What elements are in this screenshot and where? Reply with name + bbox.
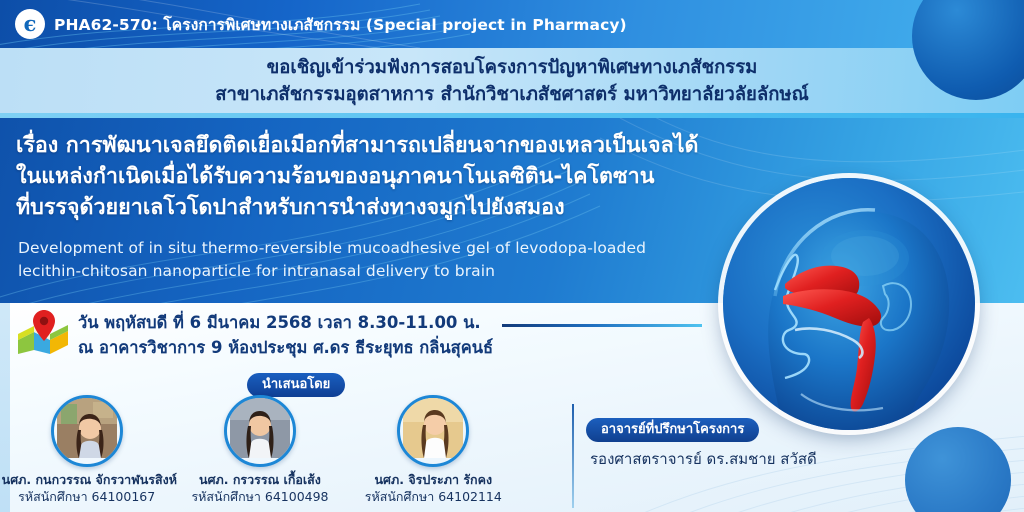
project-title-thai: เรื่อง การพัฒนาเจลยึดติดเยื่อเมือกที่สาม… — [16, 130, 716, 223]
advisor-badge: อาจารย์ที่ปรึกษาโครงการ — [586, 418, 759, 442]
presenter-item: นศภ. กนกวรรณ จักรวาฬนรสิงห์ รหัสนักศึกษา… — [2, 395, 172, 505]
presenter-item: นศภ. กรวรรณ เกื้อเส้ง รหัสนักศึกษา 64100… — [175, 395, 345, 505]
project-title-english: Development of in situ thermo-reversible… — [18, 237, 678, 283]
project-title-thai-line-3: ที่บรรจุด้วยยาเลโวโดปาสำหรับการนำส่งทางจ… — [16, 192, 716, 223]
presenter-student-id: รหัสนักศึกษา 64100167 — [2, 488, 172, 505]
invitation-text: ขอเชิญเข้าร่วมฟังการสอบโครงการปัญหาพิเศษ… — [0, 54, 1024, 108]
project-title-english-line-1: Development of in situ thermo-reversible… — [18, 237, 678, 260]
emblem-glyph: є — [24, 13, 37, 34]
schedule-block: วัน พฤหัสบดี ที่ 6 มีนาคม 2568 เวลา 8.30… — [78, 310, 493, 360]
project-title-thai-line-2: ในแหล่งกำเนิดเมื่อได้รับความร้อนของอนุภา… — [16, 161, 716, 192]
advisor-divider — [572, 404, 574, 508]
project-title-english-line-2: lecithin-chitosan nanoparticle for intra… — [18, 260, 678, 283]
event-date-time: วัน พฤหัสบดี ที่ 6 มีนาคม 2568 เวลา 8.30… — [78, 310, 493, 335]
presenter-name: นศภ. จิรประภา รักคง — [348, 471, 518, 488]
student-portrait-icon — [224, 395, 296, 467]
event-poster: є PHA62-570: โครงการพิเศษทางเภสัชกรรม (S… — [0, 0, 1024, 512]
map-location-pin-icon — [16, 310, 72, 354]
presenter-item: นศภ. จิรประภา รักคง รหัสนักศึกษา 6410211… — [348, 395, 518, 505]
presenter-list: นศภ. กนกวรรณ จักรวาฬนรสิงห์ รหัสนักศึกษา… — [0, 395, 520, 505]
presenter-student-id: รหัสนักศึกษา 64100498 — [175, 488, 345, 505]
page-title: PHA62-570: โครงการพิเศษทางเภสัชกรรม (Spe… — [54, 12, 627, 38]
event-venue: ณ อาคารวิชาการ 9 ห้องประชุม ศ.ดร ธีระยุท… — [78, 335, 493, 360]
invitation-line-1: ขอเชิญเข้าร่วมฟังการสอบโครงการปัญหาพิเศษ… — [0, 54, 1024, 81]
presenter-name: นศภ. กนกวรรณ จักรวาฬนรสิงห์ — [2, 471, 172, 488]
head-nasal-cavity-anatomy-icon — [723, 178, 975, 430]
university-emblem-icon: є — [15, 9, 45, 39]
advisor-name: รองศาสตราจารย์ ดร.สมชาย สวัสดี — [590, 448, 817, 470]
presenter-name: นศภ. กรวรรณ เกื้อเส้ง — [175, 471, 345, 488]
anatomy-svg — [723, 178, 975, 430]
student-portrait-icon — [51, 395, 123, 467]
invitation-line-2: สาขาเภสัชกรรมอุตสาหการ สำนักวิชาเภสัชศาส… — [0, 81, 1024, 108]
student-portrait-icon — [397, 395, 469, 467]
header-bar: є PHA62-570: โครงการพิเศษทางเภสัชกรรม (S… — [0, 0, 1024, 48]
presenter-student-id: รหัสนักศึกษา 64102114 — [348, 488, 518, 505]
presented-by-badge: นำเสนอโดย — [247, 373, 345, 397]
accent-rule — [502, 324, 702, 327]
project-title-thai-line-1: เรื่อง การพัฒนาเจลยึดติดเยื่อเมือกที่สาม… — [16, 130, 716, 161]
